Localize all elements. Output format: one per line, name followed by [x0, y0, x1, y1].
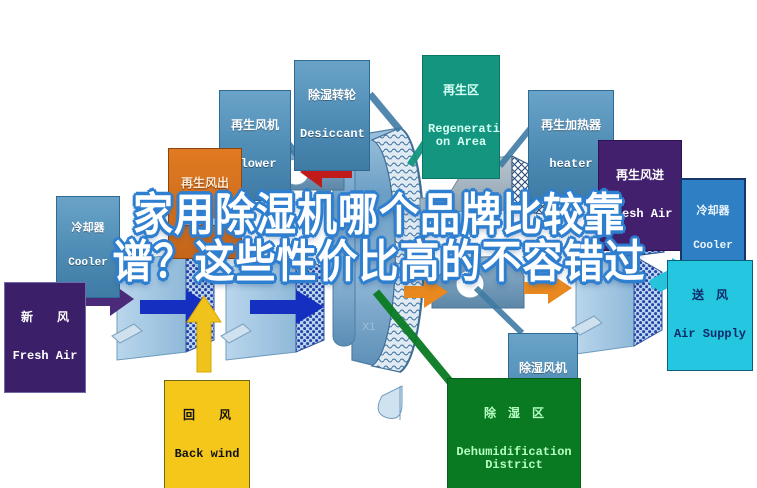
label-dehumidification-district[interactable]: 除 湿 区 Dehumidification District	[447, 378, 581, 488]
label-en: Regenerati on Area	[428, 123, 494, 149]
label-cn: 再生风机	[225, 119, 285, 132]
label-en: heater	[534, 158, 608, 171]
label-cn: 回 风	[170, 409, 244, 422]
label-cn: 再生风出	[174, 177, 236, 190]
label-cn: 冷却器	[62, 223, 114, 235]
label-regen-fresh-air-in[interactable]: 再生风进 Fresh Air	[598, 140, 682, 251]
label-cn: 除 湿 区	[453, 407, 575, 420]
label-back-wind[interactable]: 回 风 Back wind	[164, 380, 250, 488]
label-cn: 再生加热器	[534, 119, 608, 132]
label-en: Desiccant	[300, 128, 364, 141]
label-en: Back wind	[170, 448, 244, 461]
label-cn: 除湿风机	[514, 362, 572, 375]
label-en: Fresh Air	[604, 208, 676, 221]
label-en: Exhaust	[174, 216, 236, 229]
label-cn: 再生区	[428, 84, 494, 97]
label-cn: 冷却器	[687, 206, 739, 218]
label-cn: 新 风	[10, 311, 80, 324]
label-fresh-air-in[interactable]: 新 风 Fresh Air	[4, 282, 86, 393]
cooler-coil-2	[221, 250, 324, 360]
label-cn: 除湿转轮	[300, 89, 364, 102]
label-en: Fresh Air	[10, 350, 80, 363]
label-en: Dehumidification District	[453, 446, 575, 472]
label-en: Cooler	[62, 258, 114, 270]
label-desiccant-rotor[interactable]: 除湿转轮 Desiccant	[294, 60, 370, 171]
label-cn: 再生风进	[604, 169, 676, 182]
label-en: Air Supply	[673, 328, 747, 341]
label-air-supply[interactable]: 送 风 Air Supply	[667, 260, 753, 371]
label-cn: 送 风	[673, 289, 747, 302]
diagram-canvas: X1	[0, 0, 757, 488]
label-en: Cooler	[687, 241, 739, 253]
label-regeneration-area[interactable]: 再生区 Regenerati on Area	[422, 55, 500, 179]
svg-text:X1: X1	[362, 321, 375, 333]
label-regen-exhaust[interactable]: 再生风出 Exhaust	[168, 148, 242, 259]
